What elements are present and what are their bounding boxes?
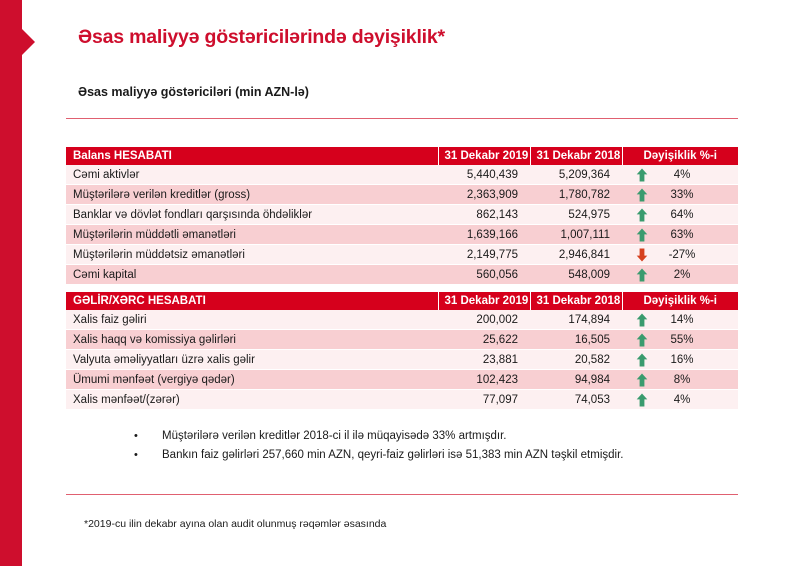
row-change-cell: 8% xyxy=(622,370,738,390)
table-header-row: GƏLİR/XƏRC HESABATI 31 Dekabr 2019 31 De… xyxy=(66,292,738,310)
row-label: Xalis haqq və komissiya gəlirləri xyxy=(66,330,438,350)
arrow-up-icon xyxy=(636,393,648,407)
row-change-cell: 64% xyxy=(622,205,738,225)
row-change-cell: 33% xyxy=(622,185,738,205)
row-value-y2018: 16,505 xyxy=(530,330,622,350)
table-header-row: Balans HESABATI 31 Dekabr 2019 31 Dekabr… xyxy=(66,147,738,165)
row-label: Banklar və dövlət fondları qarşısında öh… xyxy=(66,205,438,225)
row-change-value: 63% xyxy=(648,229,738,241)
income-statement-table: GƏLİR/XƏRC HESABATI 31 Dekabr 2019 31 De… xyxy=(66,292,738,410)
chevron-right-icon xyxy=(22,29,35,55)
table-row: Cəmi kapital 560,056 548,009 2% xyxy=(66,265,738,285)
arrow-up-icon xyxy=(636,268,648,282)
table-row: Xalis faiz gəliri 200,002 174,894 14% xyxy=(66,310,738,330)
row-label: Xalis faiz gəliri xyxy=(66,310,438,330)
row-value-y2019: 102,423 xyxy=(438,370,530,390)
table-row: Müştərilərin müddətli əmanətləri 1,639,1… xyxy=(66,225,738,245)
row-value-y2019: 23,881 xyxy=(438,350,530,370)
table-row: Müştərilərin müddətsiz əmanətləri 2,149,… xyxy=(66,245,738,265)
column-header-y2018: 31 Dekabr 2018 xyxy=(530,292,622,310)
row-change-value: 4% xyxy=(648,394,738,406)
row-label: Cəmi aktivlər xyxy=(66,165,438,185)
row-change-cell: 55% xyxy=(622,330,738,350)
row-value-y2018: 74,053 xyxy=(530,390,622,410)
row-change-cell: 14% xyxy=(622,310,738,330)
arrow-down-icon xyxy=(636,248,648,262)
bullet-list: • Müştərilərə verilən kreditlər 2018-ci … xyxy=(134,429,623,467)
row-value-y2019: 560,056 xyxy=(438,265,530,285)
column-header-change: Dəyişiklik %-i xyxy=(622,147,738,165)
row-value-y2018: 5,209,364 xyxy=(530,165,622,185)
row-change-cell: 16% xyxy=(622,350,738,370)
row-value-y2019: 25,622 xyxy=(438,330,530,350)
list-item-text: Müştərilərə verilən kreditlər 2018-ci il… xyxy=(162,429,507,444)
row-label: Müştərilərin müddətsiz əmanətləri xyxy=(66,245,438,265)
row-value-y2019: 1,639,166 xyxy=(438,225,530,245)
row-value-y2019: 2,149,775 xyxy=(438,245,530,265)
arrow-up-icon xyxy=(636,313,648,327)
row-change-value: 8% xyxy=(648,374,738,386)
column-header-y2019: 31 Dekabr 2019 xyxy=(438,292,530,310)
column-header-y2019: 31 Dekabr 2019 xyxy=(438,147,530,165)
table-row: Xalis mənfəət/(zərər) 77,097 74,053 4% xyxy=(66,390,738,410)
page-subtitle: Əsas maliyyə göstəriciləri (min AZN-lə) xyxy=(78,85,309,99)
arrow-up-icon xyxy=(636,333,648,347)
arrow-up-icon xyxy=(636,228,648,242)
bullet-icon: • xyxy=(134,448,162,463)
arrow-up-icon xyxy=(636,168,648,182)
row-change-value: 55% xyxy=(648,334,738,346)
table-row: Valyuta əməliyyatları üzrə xalis gəlir 2… xyxy=(66,350,738,370)
row-value-y2019: 862,143 xyxy=(438,205,530,225)
table-row: Banklar və dövlət fondları qarşısında öh… xyxy=(66,205,738,225)
table-row: Cəmi aktivlər 5,440,439 5,209,364 4% xyxy=(66,165,738,185)
row-value-y2018: 548,009 xyxy=(530,265,622,285)
row-change-cell: 63% xyxy=(622,225,738,245)
row-change-cell: 4% xyxy=(622,165,738,185)
row-label: Müştərilərin müddətli əmanətləri xyxy=(66,225,438,245)
footnote-text: *2019-cu ilin dekabr ayına olan audit ol… xyxy=(84,518,386,530)
table-row: Xalis haqq və komissiya gəlirləri 25,622… xyxy=(66,330,738,350)
row-value-y2019: 2,363,909 xyxy=(438,185,530,205)
row-label: Müştərilərə verilən kreditlər (gross) xyxy=(66,185,438,205)
row-value-y2018: 1,780,782 xyxy=(530,185,622,205)
table-row: Müştərilərə verilən kreditlər (gross) 2,… xyxy=(66,185,738,205)
list-item: • Bankın faiz gəlirləri 257,660 min AZN,… xyxy=(134,448,623,463)
table-row: Ümumi mənfəət (vergiyə qədər) 102,423 94… xyxy=(66,370,738,390)
row-label: Xalis mənfəət/(zərər) xyxy=(66,390,438,410)
arrow-up-icon xyxy=(636,353,648,367)
column-header-title: Balans HESABATI xyxy=(66,147,438,165)
row-change-value: 14% xyxy=(648,314,738,326)
row-change-cell: -27% xyxy=(622,245,738,265)
row-change-value: 64% xyxy=(648,209,738,221)
arrow-up-icon xyxy=(636,373,648,387)
row-change-cell: 2% xyxy=(622,265,738,285)
row-value-y2019: 5,440,439 xyxy=(438,165,530,185)
row-change-cell: 4% xyxy=(622,390,738,410)
balance-sheet-table: Balans HESABATI 31 Dekabr 2019 31 Dekabr… xyxy=(66,147,738,285)
row-value-y2019: 77,097 xyxy=(438,390,530,410)
row-value-y2018: 94,984 xyxy=(530,370,622,390)
row-change-value: 33% xyxy=(648,189,738,201)
row-value-y2018: 20,582 xyxy=(530,350,622,370)
column-header-y2018: 31 Dekabr 2018 xyxy=(530,147,622,165)
row-label: Ümumi mənfəət (vergiyə qədər) xyxy=(66,370,438,390)
list-item: • Müştərilərə verilən kreditlər 2018-ci … xyxy=(134,429,623,444)
left-accent-bar xyxy=(0,0,22,566)
divider-bottom xyxy=(66,494,738,495)
row-value-y2018: 524,975 xyxy=(530,205,622,225)
column-header-change: Dəyişiklik %-i xyxy=(622,292,738,310)
arrow-up-icon xyxy=(636,208,648,222)
bullet-icon: • xyxy=(134,429,162,444)
row-value-y2018: 2,946,841 xyxy=(530,245,622,265)
slide-content: Əsas maliyyə göstəricilərində dəyişiklik… xyxy=(66,0,766,566)
row-label: Valyuta əməliyyatları üzrə xalis gəlir xyxy=(66,350,438,370)
row-value-y2018: 1,007,111 xyxy=(530,225,622,245)
row-change-value: 4% xyxy=(648,169,738,181)
arrow-up-icon xyxy=(636,188,648,202)
page-title: Əsas maliyyə göstəricilərində dəyişiklik… xyxy=(78,26,445,49)
row-change-value: -27% xyxy=(648,249,738,261)
row-change-value: 16% xyxy=(648,354,738,366)
list-item-text: Bankın faiz gəlirləri 257,660 min AZN, q… xyxy=(162,448,623,463)
row-value-y2018: 174,894 xyxy=(530,310,622,330)
column-header-title: GƏLİR/XƏRC HESABATI xyxy=(66,292,438,310)
row-label: Cəmi kapital xyxy=(66,265,438,285)
row-value-y2019: 200,002 xyxy=(438,310,530,330)
divider-top xyxy=(66,118,738,119)
row-change-value: 2% xyxy=(648,269,738,281)
